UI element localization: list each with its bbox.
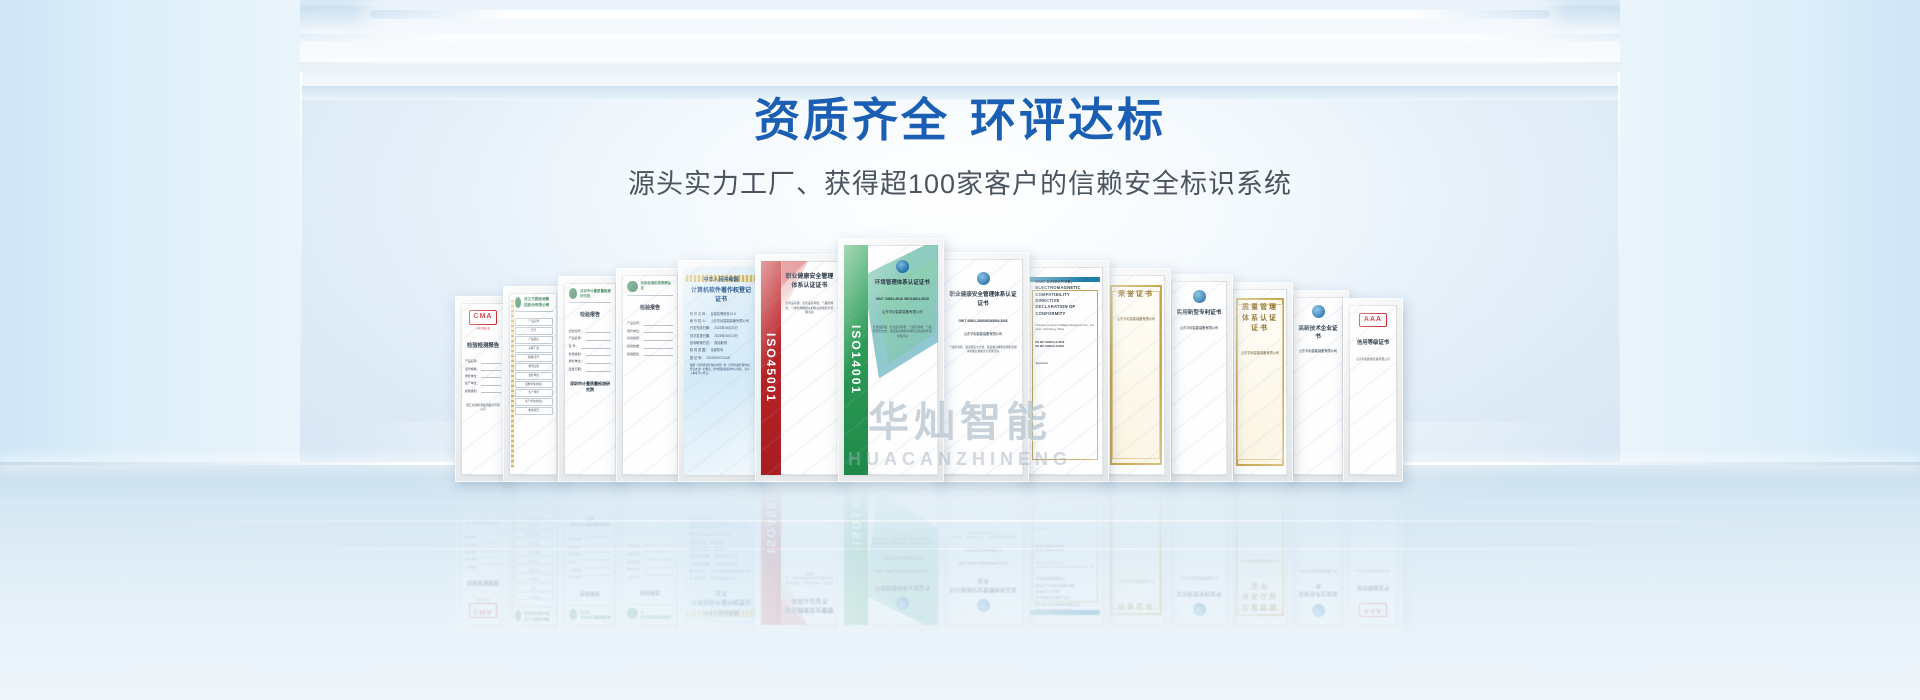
certificate-frame[interactable]: ISO14001 环境管理体系认证证书 GB/T 24001-2016 /ISO…	[838, 482, 944, 632]
certificate-frame[interactable]: 中华人民共和国 计算机软件著作权登记证书 软 件 名 称：智能告警软件V1.0著…	[678, 482, 764, 632]
certificate-frame[interactable]: 高新技术企业证书 山东华灿智能装备有限公司	[1287, 290, 1349, 482]
certificate-frame[interactable]: 深圳市计量质量检测研究院 检验报告 报告编号：产品名称：型 号：检测类别：委托单…	[558, 276, 622, 482]
certificate-paper: ISO14001 环境管理体系认证证书 GB/T 24001-2016 /ISO…	[844, 245, 938, 475]
certificate-paper: 荣誉证书 山东华灿智能装备有限公司	[1107, 275, 1165, 475]
certificate-paper: ISO45001 职业健康安全管理体系认证证书 危险品存储、危化品暂存柜、气瓶防…	[761, 482, 839, 625]
ceiling-light-strip-2	[295, 34, 1625, 41]
certificate-frame[interactable]: ISO45001 职业健康安全管理体系认证证书 危险品存储、危化品暂存柜、气瓶防…	[755, 482, 845, 632]
certificate-frame[interactable]: EMC DIRECTIVE,ELECTROMAGNETIC COMPATIBIL…	[1021, 260, 1109, 482]
certificate-paper: 职业健康安全管理体系认证证书 GB/T 45001-2020/ISO45001:…	[943, 259, 1023, 475]
certificate-paper: 中华人民共和国 计算机软件著作权登记证书 软 件 名 称：智能告警软件V1.0著…	[684, 267, 758, 475]
banner-stage: 资质齐全环评达标 源头实力工厂、获得超100家客户的信赖安全标识系统 CMA 中…	[0, 0, 1920, 700]
certificate-rack: CMA 中国计量认证 检验检测报告 产品名称：型号规格：委托单位：生产单位：检验…	[455, 232, 1465, 482]
page-title-part1: 资质齐全	[754, 94, 950, 146]
certificate-frame[interactable]: AAA 信用等级证书 山东华灿智能装备有限公司	[1343, 482, 1403, 632]
certificate-frame[interactable]: AAA 信用等级证书 山东华灿智能装备有限公司	[1343, 298, 1403, 482]
certificate-paper: CMA 中国计量认证 检验检测报告 产品名称：型号规格：委托单位：生产单位：检验…	[461, 303, 505, 475]
certificate-paper: ISO45001 职业健康安全管理体系认证证书 危险品存储、危化品暂存柜、气瓶防…	[761, 261, 839, 475]
certificate-paper: 高新技术企业证书 山东华灿智能装备有限公司	[1293, 482, 1343, 625]
certificate-frame[interactable]: 质量管理体系认证证书 山东华灿智能装备有限公司	[1227, 282, 1293, 482]
certificate-paper: EMC DIRECTIVE,ELECTROMAGNETIC COMPATIBIL…	[1027, 482, 1103, 625]
certificate-paper: 质量管理体系认证证书 山东华灿智能装备有限公司	[1233, 482, 1287, 625]
certificate-paper: 实用新型专利证书 山东华灿智能装备有限公司	[1171, 281, 1227, 475]
certificate-paper: 检验检测机构资质认定 检验报告 产品名称：委托单位：检验类别：检验依据：检验结论…	[622, 482, 678, 625]
certificate-frame[interactable]: EMC DIRECTIVE,ELECTROMAGNETIC COMPATIBIL…	[1021, 482, 1109, 632]
certificate-frame[interactable]: 深圳市计量质量检测研究院 检验报告 报告编号：产品名称：型 号：检测类别：委托单…	[558, 482, 622, 632]
certificate-frame[interactable]: 检验检测机构资质认定 检验报告 产品名称：委托单位：检验类别：检验依据：检验结论…	[616, 482, 684, 632]
page-title: 资质齐全环评达标	[0, 92, 1920, 150]
certificate-frame[interactable]: ISO14001 环境管理体系认证证书 GB/T 24001-2016 /ISO…	[838, 238, 944, 482]
certificate-paper: 深圳市计量质量检测研究院 检验报告 报告编号：产品名称：型 号：检测类别：委托单…	[564, 482, 616, 625]
certificate-frame[interactable]: 实用新型专利证书 山东华灿智能装备有限公司	[1165, 274, 1233, 482]
certificate-paper: EMC DIRECTIVE,ELECTROMAGNETIC COMPATIBIL…	[1027, 267, 1103, 475]
certificate-paper: ISO14001 环境管理体系认证证书 GB/T 24001-2016 /ISO…	[844, 482, 938, 625]
certificate-frame[interactable]: ISO45001 职业健康安全管理体系认证证书 危险品存储、危化品暂存柜、气瓶防…	[755, 254, 845, 482]
certificate-paper: 质量管理体系认证证书 山东华灿智能装备有限公司	[1233, 289, 1287, 475]
certificate-paper: AAA 信用等级证书 山东华灿智能装备有限公司	[1349, 305, 1397, 475]
certificate-frame[interactable]: 职业健康安全管理体系认证证书 GB/T 45001-2020/ISO45001:…	[937, 252, 1029, 482]
certificate-paper: 浙江方圆检测集团股份有限公司 产品名称型号产品商标标称厂家规格/型号检测日期委托…	[509, 293, 557, 475]
certificate-frame[interactable]: 高新技术企业证书 山东华灿智能装备有限公司	[1287, 482, 1349, 632]
certificate-paper: 浙江方圆检测集团股份有限公司 产品名称型号产品商标标称厂家规格/型号检测日期委托…	[509, 482, 557, 625]
page-title-part2: 环评达标	[970, 94, 1166, 146]
certificate-frame[interactable]: 职业健康安全管理体系认证证书 GB/T 45001-2020/ISO45001:…	[937, 482, 1029, 632]
certificate-frame[interactable]: 荣誉证书 山东华灿智能装备有限公司	[1101, 268, 1171, 482]
page-subtitle: 源头实力工厂、获得超100家客户的信赖安全标识系统	[0, 162, 1920, 201]
ceiling-light-strip-1	[370, 10, 1550, 19]
headline-block: 资质齐全环评达标 源头实力工厂、获得超100家客户的信赖安全标识系统	[0, 92, 1920, 201]
certificate-frame[interactable]: 中华人民共和国 计算机软件著作权登记证书 软 件 名 称：智能告警软件V1.0著…	[678, 260, 764, 482]
certificate-paper: 深圳市计量质量检测研究院 检验报告 报告编号：产品名称：型 号：检测类别：委托单…	[564, 283, 616, 475]
certificate-frame[interactable]: 实用新型专利证书 山东华灿智能装备有限公司	[1165, 482, 1233, 632]
certificate-paper: 职业健康安全管理体系认证证书 GB/T 45001-2020/ISO45001:…	[943, 482, 1023, 625]
certificate-frame[interactable]: 检验检测机构资质认定 检验报告 产品名称：委托单位：检验类别：检验依据：检验结论…	[616, 268, 684, 482]
certificate-paper: 检验检测机构资质认定 检验报告 产品名称：委托单位：检验类别：检验依据：检验结论…	[622, 275, 678, 475]
certificate-frame[interactable]: 荣誉证书 山东华灿智能装备有限公司	[1101, 482, 1171, 632]
certificate-reflection: CMA 中国计量认证 检验检测报告 产品名称：型号规格：委托单位：生产单位：检验…	[455, 482, 1465, 632]
certificate-paper: CMA 中国计量认证 检验检测报告 产品名称：型号规格：委托单位：生产单位：检验…	[461, 482, 505, 625]
certificate-frame[interactable]: 浙江方圆检测集团股份有限公司 产品名称型号产品商标标称厂家规格/型号检测日期委托…	[503, 482, 563, 632]
certificate-paper: 荣誉证书 山东华灿智能装备有限公司	[1107, 482, 1165, 625]
ceiling-light-strip-3	[210, 58, 1710, 64]
certificate-paper: 实用新型专利证书 山东华灿智能装备有限公司	[1171, 482, 1227, 625]
certificate-paper: 中华人民共和国 计算机软件著作权登记证书 软 件 名 称：智能告警软件V1.0著…	[684, 482, 758, 625]
certificate-paper: 高新技术企业证书 山东华灿智能装备有限公司	[1293, 297, 1343, 475]
certificate-frame[interactable]: 质量管理体系认证证书 山东华灿智能装备有限公司	[1227, 482, 1293, 632]
certificate-paper: AAA 信用等级证书 山东华灿智能装备有限公司	[1349, 482, 1397, 625]
certificate-frame[interactable]: 浙江方圆检测集团股份有限公司 产品名称型号产品商标标称厂家规格/型号检测日期委托…	[503, 286, 563, 482]
